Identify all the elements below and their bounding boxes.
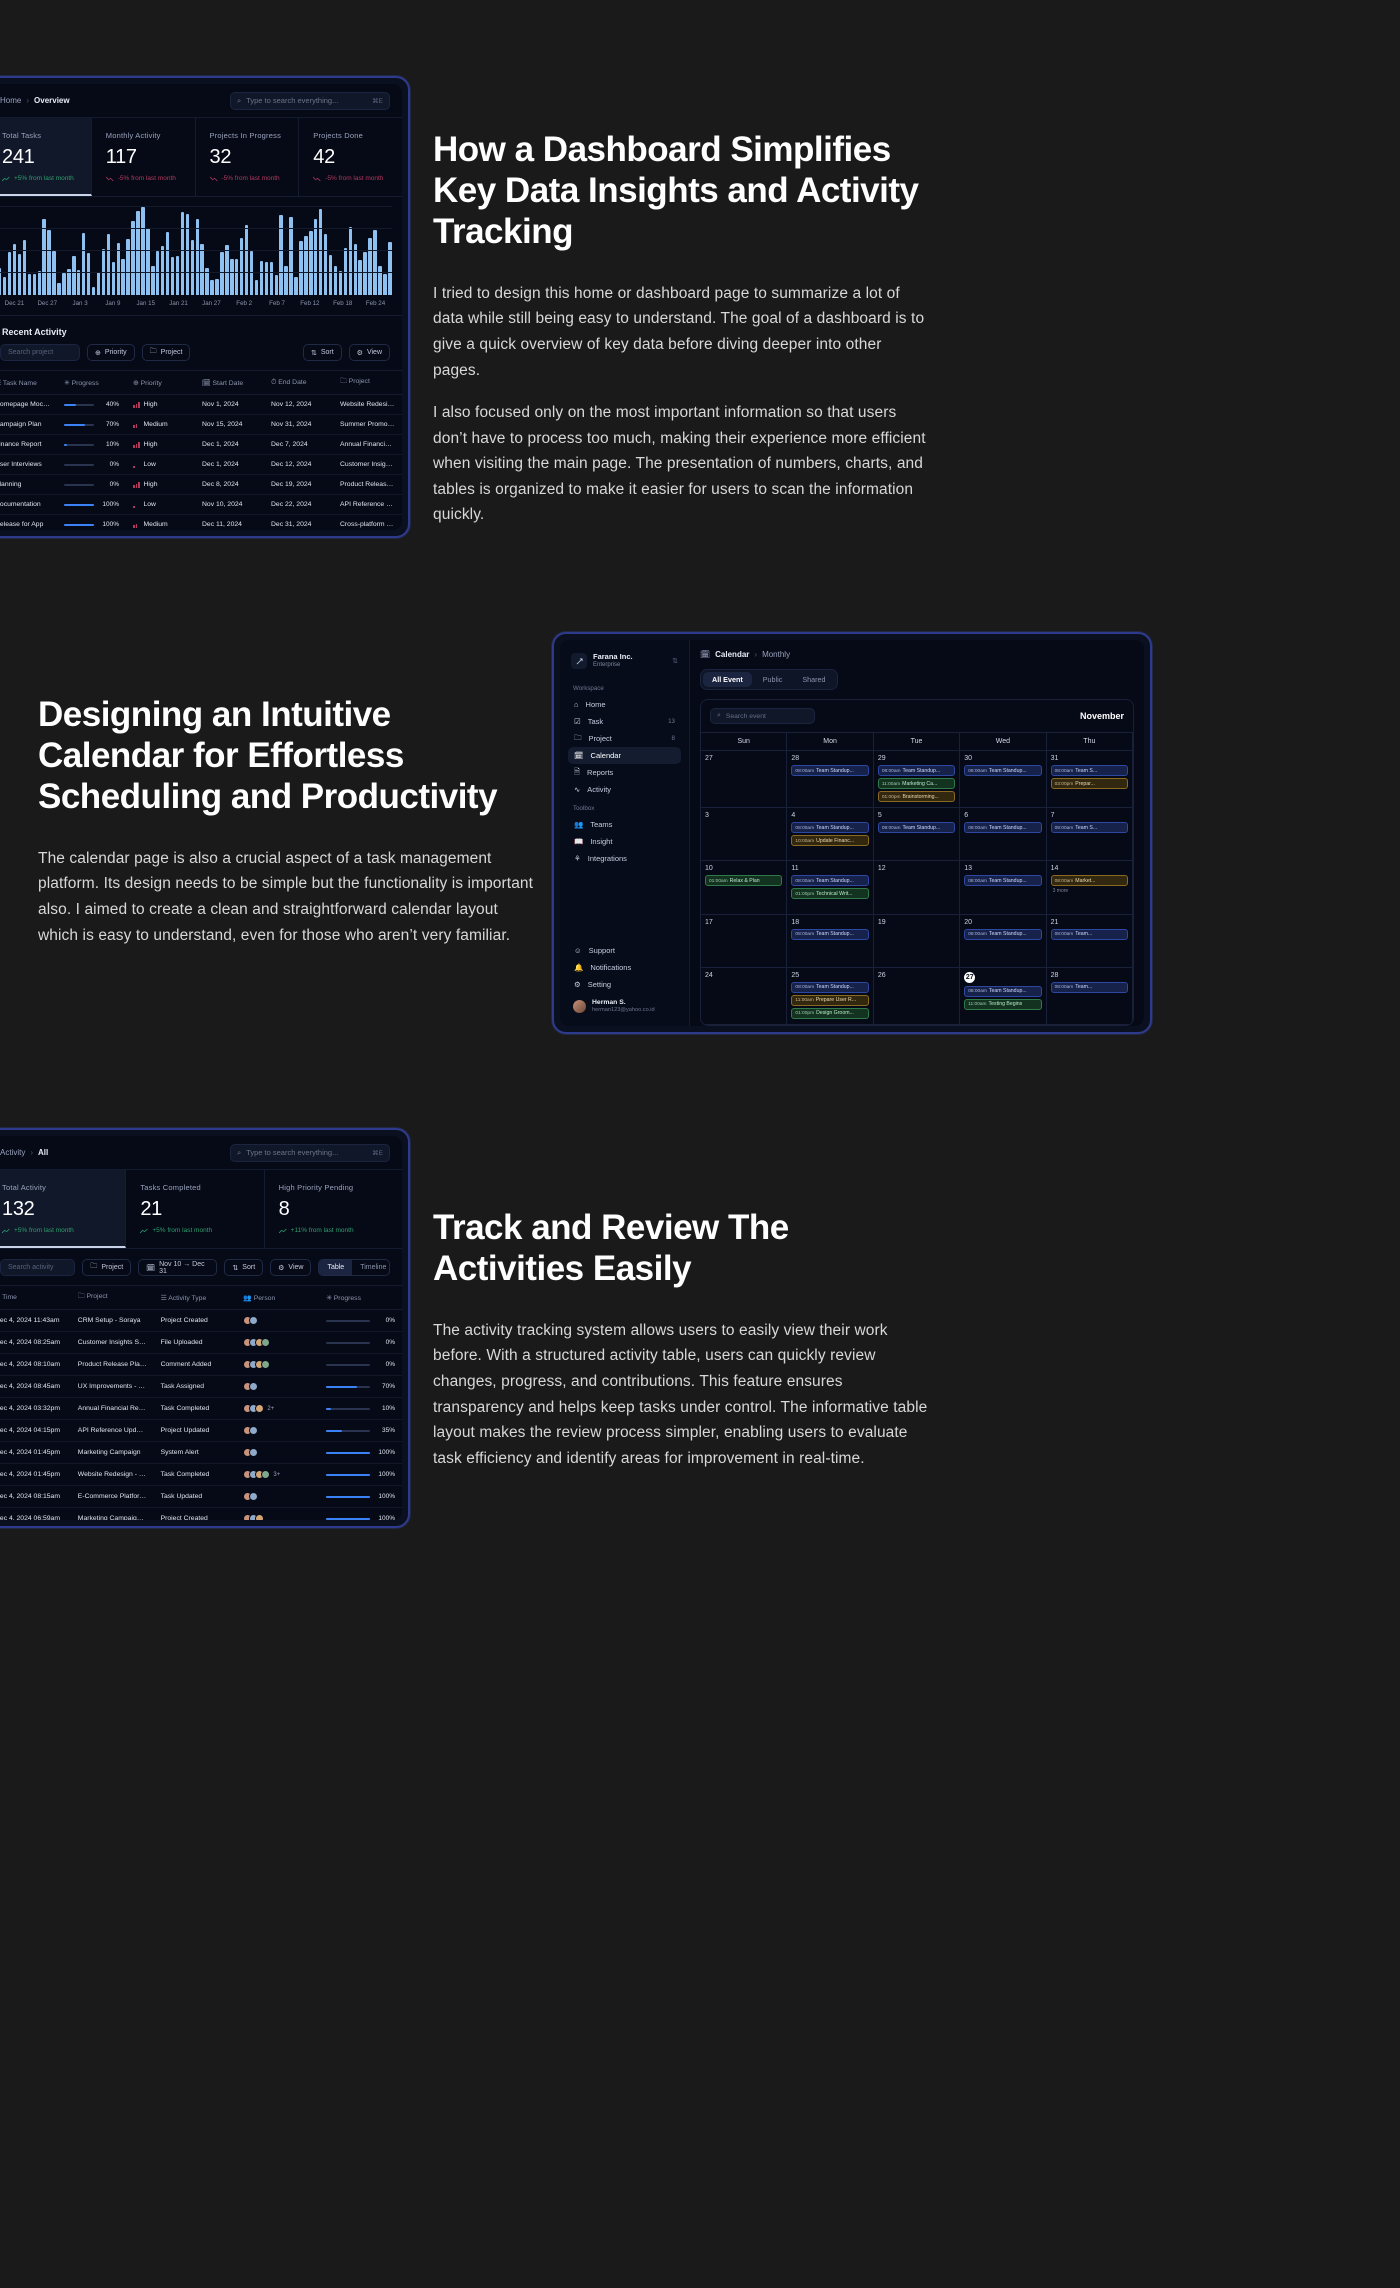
table-row[interactable]: Documentation 100% Low Nov 10, 2024 Dec … bbox=[0, 495, 402, 515]
table-row[interactable]: User Interviews 0% Low Dec 1, 2024 Dec 1… bbox=[0, 455, 402, 475]
calendar-day-cell[interactable]: 27 bbox=[701, 751, 787, 808]
calendar-event[interactable]: 01:00amRelax & Plan bbox=[705, 875, 782, 886]
chart-tick-label: Feb 24 bbox=[359, 300, 392, 307]
calendar-day-cell[interactable]: 20 08:00amTeam Standup... bbox=[960, 915, 1046, 968]
chart-bar bbox=[181, 212, 184, 295]
day-number: 29 bbox=[878, 755, 955, 762]
table-row[interactable]: Dec 4, 2024 03:32pm Annual Financial Rep… bbox=[0, 1398, 402, 1420]
event-time: 08:00am bbox=[968, 932, 987, 937]
event-time: 01:00pm bbox=[795, 1011, 814, 1016]
chart-tick-label: Dec 21 bbox=[0, 300, 31, 307]
event-title: Market... bbox=[1075, 878, 1095, 884]
column-header[interactable]: ☰ Activity Type bbox=[154, 1286, 237, 1310]
calendar-icon: 🗓 bbox=[574, 751, 584, 760]
cell-activity-type: Task Updated bbox=[154, 1486, 237, 1508]
event-time: 08:00am bbox=[1055, 879, 1074, 884]
chart-bar bbox=[368, 238, 371, 295]
chart-tick-label: Feb 18 bbox=[326, 300, 359, 307]
sidebar-item-reports[interactable]: 🗎 Reports bbox=[568, 764, 681, 781]
event-title: Update Financ... bbox=[816, 838, 854, 844]
folder-icon: 🗀 bbox=[150, 347, 157, 358]
event-title: Team Standup... bbox=[989, 825, 1027, 831]
chart-bar bbox=[210, 280, 213, 295]
calendar-event[interactable]: 11:00amPrepare User R... bbox=[791, 995, 868, 1006]
table-row[interactable]: Dec 4, 2024 08:25am Customer Insights St… bbox=[0, 1332, 402, 1354]
stat-delta: -5% from last month bbox=[210, 175, 285, 182]
calendar-event[interactable]: 11:00amMarketing Ca... bbox=[878, 778, 955, 789]
home-icon: ⌂ bbox=[574, 700, 579, 709]
dashboard-paragraph-1: I tried to design this home or dashboard… bbox=[433, 281, 933, 383]
calendar-day-cell[interactable]: 7 08:00amTeam S... bbox=[1047, 808, 1133, 861]
table-row[interactable]: Dec 4, 2024 04:15pm API Reference Update… bbox=[0, 1420, 402, 1442]
sidebar-item-task[interactable]: ☑ Task 13 bbox=[568, 713, 681, 730]
calendar-day-cell[interactable]: 30 08:00amTeam Standup... bbox=[960, 751, 1046, 808]
event-time: 03:00pm bbox=[1055, 782, 1074, 787]
activity-search-input[interactable]: Search activity bbox=[0, 1259, 75, 1276]
sidebar-item-home[interactable]: ⌂ Home bbox=[568, 696, 681, 713]
sort-button[interactable]: ⇅Sort bbox=[224, 1259, 263, 1276]
calendar-event[interactable]: 08:00amTeam Standup... bbox=[964, 875, 1041, 886]
search-icon: ⌕ bbox=[717, 712, 721, 720]
sidebar-item-notifications[interactable]: 🔔 Notifications bbox=[568, 959, 681, 976]
breadcrumb-root[interactable]: Activity bbox=[0, 1148, 25, 1157]
chart-tick-label: Jan 3 bbox=[64, 300, 97, 307]
event-time: 08:00am bbox=[968, 769, 987, 774]
chart-bar bbox=[161, 246, 164, 295]
sidebar-item-integrations[interactable]: ⚘ Integrations bbox=[568, 850, 681, 867]
column-header[interactable]: 👥 Person bbox=[236, 1286, 319, 1310]
sidebar-item-project[interactable]: 🗀 Project 8 bbox=[568, 730, 681, 747]
event-time: 08:00am bbox=[968, 879, 987, 884]
cell-progress: 100% bbox=[57, 515, 126, 531]
chart-bar bbox=[18, 254, 21, 295]
calendar-tabs: All EventPublicShared bbox=[700, 669, 838, 690]
sidebar-item-insight[interactable]: 📖 Insight bbox=[568, 833, 681, 850]
calendar-window: Farana Inc. Enterprise ⇅ Workspace ⌂ Hom… bbox=[552, 632, 1152, 1034]
cell-time: Dec 4, 2024 11:43am bbox=[0, 1310, 71, 1332]
column-icon: 🗀 bbox=[340, 378, 347, 385]
event-search-placeholder: Search event bbox=[726, 713, 766, 720]
avatar bbox=[261, 1470, 270, 1479]
weekday-label: Mon bbox=[787, 732, 873, 751]
calendar-week-row: 10 01:00amRelax & Plan 11 08:00amTeam St… bbox=[701, 861, 1133, 914]
sidebar-item-label: Home bbox=[586, 700, 606, 709]
event-time: 08:00am bbox=[795, 769, 814, 774]
table-row[interactable]: Dec 4, 2024 08:10am Product Release Plan… bbox=[0, 1354, 402, 1376]
column-header[interactable]: 🗓 Start Date bbox=[195, 371, 264, 395]
global-search-input[interactable]: ⌕ Type to search everything... ⌘E bbox=[230, 1144, 390, 1162]
global-search-input[interactable]: ⌕ Type to search everything... ⌘E bbox=[230, 92, 390, 110]
cell-project: Annual Financial Report bbox=[333, 435, 402, 455]
user-profile[interactable]: Herman S. herman123@yahoo.co.id bbox=[568, 993, 681, 1016]
cell-person bbox=[236, 1508, 319, 1521]
breadcrumb-root[interactable]: Home bbox=[0, 96, 21, 105]
view-button[interactable]: ⚙View bbox=[270, 1259, 311, 1276]
priority-icon bbox=[133, 522, 140, 528]
event-title: Technical Writ... bbox=[816, 891, 853, 897]
column-icon: 🗓 bbox=[202, 380, 211, 387]
table-row[interactable]: Dec 4, 2024 06:59am Marketing Campaign -… bbox=[0, 1508, 402, 1521]
chart-bar bbox=[38, 271, 41, 295]
column-header[interactable]: ☰ Task Name bbox=[0, 371, 57, 395]
dashboard-paragraph-2: I also focused only on the most importan… bbox=[433, 400, 933, 528]
avatar bbox=[249, 1426, 258, 1435]
sidebar-item-teams[interactable]: 👥 Teams bbox=[568, 816, 681, 833]
calendar-event[interactable]: 08:00amTeam Standup... bbox=[964, 822, 1041, 833]
activity-article: Track and Review The Activities Easily T… bbox=[433, 1208, 933, 1471]
event-title: Prepar... bbox=[1075, 781, 1095, 787]
calendar-day-cell[interactable]: 26 bbox=[874, 968, 960, 1025]
calendar-event[interactable]: 08:00amTeam Standup... bbox=[964, 929, 1041, 940]
day-number: 30 bbox=[964, 755, 1041, 762]
day-number: 5 bbox=[878, 812, 955, 819]
dashboard-article: How a Dashboard Simplifies Key Data Insi… bbox=[433, 130, 933, 528]
table-row[interactable]: Dec 4, 2024 01:45pm Website Redesign - H… bbox=[0, 1464, 402, 1486]
cell-end-date: Dec 7, 2024 bbox=[264, 435, 333, 455]
sidebar-item-label: Support bbox=[589, 946, 615, 955]
search-shortcut: ⌘E bbox=[372, 1149, 383, 1157]
column-header[interactable]: ⏱ Time bbox=[0, 1286, 71, 1310]
table-row[interactable]: Dec 4, 2024 08:45am UX Improvements - Bu… bbox=[0, 1376, 402, 1398]
project-filter-button[interactable]: 🗀Project bbox=[142, 344, 191, 361]
activity-icon: ∿ bbox=[574, 785, 580, 794]
day-number: 31 bbox=[1051, 755, 1128, 762]
stat-value: 117 bbox=[106, 146, 181, 169]
project-search-input[interactable]: Search project bbox=[0, 344, 80, 361]
chart-bar bbox=[166, 232, 169, 295]
chart-bar bbox=[220, 252, 223, 295]
project-filter-button[interactable]: 🗀Project bbox=[82, 1259, 131, 1276]
event-title: Team Standup... bbox=[816, 931, 854, 937]
calendar-event[interactable]: 11:00amTesting Begins bbox=[964, 999, 1041, 1010]
sidebar-item-label: Teams bbox=[590, 820, 612, 829]
chart-bar bbox=[329, 255, 332, 295]
chart-bar bbox=[294, 277, 297, 295]
calendar-event[interactable]: 08:00amTeam Standup... bbox=[964, 765, 1041, 776]
column-header[interactable]: 🗀 Project bbox=[333, 371, 402, 395]
stat-card[interactable]: Total Activity 132 +5% from last month bbox=[0, 1170, 126, 1248]
chart-bar bbox=[215, 279, 218, 295]
column-icon: 🗀 bbox=[78, 1293, 85, 1300]
chart-tick-label: Dec 27 bbox=[31, 300, 64, 307]
view-mode-timeline[interactable]: Timeline bbox=[352, 1260, 390, 1275]
cell-progress: 100% bbox=[319, 1486, 402, 1508]
event-time: 08:00am bbox=[882, 769, 901, 774]
calendar-week-row: 27 28 08:00amTeam Standup... 29 08:00amT… bbox=[701, 751, 1133, 808]
column-icon: ⊕ bbox=[133, 380, 139, 387]
cell-start-date: Nov 15, 2024 bbox=[195, 415, 264, 435]
cell-priority: High bbox=[126, 395, 195, 415]
calendar-day-cell[interactable]: 13 08:00amTeam Standup... bbox=[960, 861, 1046, 914]
sidebar-item-support[interactable]: ☺ Support bbox=[568, 942, 681, 959]
activity-stat-strip: Total Activity 132 +5% from last month T… bbox=[0, 1170, 402, 1249]
table-row[interactable]: Dec 4, 2024 08:15am E-Commerce Platform … bbox=[0, 1486, 402, 1508]
cell-project: Website Redesign bbox=[333, 395, 402, 415]
cell-task: Campaign Plan bbox=[0, 415, 57, 435]
calendar-event[interactable]: 08:00amTeam Standup... bbox=[791, 822, 868, 833]
calendar-event[interactable]: 01:00pmBrainstorming... bbox=[878, 791, 955, 802]
integrations-icon: ⚘ bbox=[574, 854, 581, 863]
cell-progress: 70% bbox=[57, 415, 126, 435]
calendar-day-cell[interactable]: 12 bbox=[874, 861, 960, 914]
column-icon: ✳ bbox=[326, 1295, 332, 1302]
calendar-day-cell[interactable]: 19 bbox=[874, 915, 960, 968]
cell-person bbox=[236, 1354, 319, 1376]
calendar-event[interactable]: 01:00pmDesign Groom... bbox=[791, 1008, 868, 1019]
chart-bar bbox=[186, 214, 189, 295]
trend-down-icon bbox=[313, 176, 321, 182]
chart-bar bbox=[8, 252, 11, 295]
cell-project: Product Release Plan - Hundai bbox=[71, 1354, 154, 1376]
cell-start-date: Dec 11, 2024 bbox=[195, 515, 264, 531]
calendar-icon: 🗓 bbox=[146, 1264, 155, 1272]
calendar-day-cell[interactable]: 4 08:00amTeam Standup...10:00amUpdate Fi… bbox=[787, 808, 873, 861]
sidebar-item-activity[interactable]: ∿ Activity bbox=[568, 781, 681, 798]
day-number: 28 bbox=[1051, 972, 1128, 979]
stat-card[interactable]: Projects In Progress 32 -5% from last mo… bbox=[196, 118, 300, 196]
column-header[interactable]: ⊕ Priority bbox=[126, 371, 195, 395]
day-number: 3 bbox=[705, 812, 782, 819]
calendar-sidebar: Farana Inc. Enterprise ⇅ Workspace ⌂ Hom… bbox=[560, 640, 690, 1026]
calendar-event[interactable]: 08:00amTeam Standup... bbox=[878, 822, 955, 833]
calendar-day-cell[interactable]: 11 08:00amTeam Standup...01:00pmTechnica… bbox=[787, 861, 873, 914]
table-row[interactable]: Homepage Mockup 40% High Nov 1, 2024 Nov… bbox=[0, 395, 402, 415]
chart-bar bbox=[121, 259, 124, 295]
event-title: Team... bbox=[1075, 984, 1092, 990]
calendar-day-cell[interactable]: 28 08:00amTeam... bbox=[1047, 968, 1133, 1025]
table-row[interactable]: Finance Report 10% High Dec 1, 2024 Dec … bbox=[0, 435, 402, 455]
cell-progress: 10% bbox=[319, 1398, 402, 1420]
stat-card[interactable]: Monthly Activity 117 -5% from last month bbox=[92, 118, 196, 196]
breadcrumb-current: Monthly bbox=[762, 650, 790, 659]
day-number: 25 bbox=[791, 972, 868, 979]
chart-bar bbox=[225, 245, 228, 295]
chart-bar bbox=[270, 262, 273, 295]
calendar-tab-shared[interactable]: Shared bbox=[793, 672, 834, 687]
calendar-event[interactable]: 08:00amTeam S... bbox=[1051, 822, 1128, 833]
table-row[interactable]: Dec 4, 2024 11:43am CRM Setup - Soraya P… bbox=[0, 1310, 402, 1332]
calendar-day-cell[interactable]: 18 08:00amTeam Standup... bbox=[787, 915, 873, 968]
cell-priority: High bbox=[126, 435, 195, 455]
view-mode-table[interactable]: Table bbox=[319, 1260, 352, 1275]
cell-end-date: Dec 12, 2024 bbox=[264, 455, 333, 475]
stat-value: 132 bbox=[2, 1198, 111, 1221]
cell-activity-type: Task Completed bbox=[154, 1464, 237, 1486]
cell-activity-type: Project Created bbox=[154, 1508, 237, 1521]
sidebar-item-label: Integrations bbox=[588, 854, 627, 863]
workspace-switcher[interactable]: Farana Inc. Enterprise ⇅ bbox=[568, 650, 681, 678]
day-number: 27 bbox=[705, 755, 782, 762]
calendar-event[interactable]: 08:00amTeam Standup... bbox=[964, 986, 1041, 997]
cell-activity-type: File Uploaded bbox=[154, 1332, 237, 1354]
cell-time: Dec 4, 2024 03:32pm bbox=[0, 1398, 71, 1420]
event-time: 11:00am bbox=[882, 782, 900, 787]
priority-filter-button[interactable]: ⊕Priority bbox=[87, 344, 135, 361]
stat-label: Monthly Activity bbox=[106, 131, 181, 140]
calendar-event[interactable]: 08:00amTeam... bbox=[1051, 982, 1128, 993]
stat-value: 21 bbox=[140, 1198, 249, 1221]
calendar-event[interactable]: 03:00pmPrepar... bbox=[1051, 778, 1128, 789]
stat-card[interactable]: Tasks Completed 21 +5% from last month bbox=[126, 1170, 264, 1248]
cell-end-date: Nov 31, 2024 bbox=[264, 415, 333, 435]
weekday-label: Tue bbox=[874, 732, 960, 751]
section-title: Recent Activity bbox=[0, 316, 402, 344]
event-time: 08:00am bbox=[968, 826, 987, 831]
chart-tick-label: Jan 27 bbox=[195, 300, 228, 307]
cell-start-date: Dec 1, 2024 bbox=[195, 435, 264, 455]
chart-plot-area bbox=[0, 207, 392, 295]
report-icon: 🗎 bbox=[574, 766, 580, 779]
cell-progress: 100% bbox=[319, 1464, 402, 1486]
cell-person: 3+ bbox=[236, 1464, 319, 1486]
table-row[interactable]: Release for App 100% Medium Dec 11, 2024… bbox=[0, 515, 402, 531]
stat-delta: +11% from last month bbox=[279, 1227, 388, 1234]
stat-card[interactable]: Projects Done 42 -5% from last month bbox=[299, 118, 402, 196]
cell-time: Dec 4, 2024 08:10am bbox=[0, 1354, 71, 1376]
stat-label: Projects In Progress bbox=[210, 131, 285, 140]
column-header[interactable]: ✳ Progress bbox=[57, 371, 126, 395]
stat-card[interactable]: Total Tasks 241 +5% from last month bbox=[0, 118, 92, 196]
calendar-event[interactable]: 10:00amUpdate Financ... bbox=[791, 835, 868, 846]
cell-task: Release for App bbox=[0, 515, 57, 531]
chart-bar bbox=[191, 240, 194, 295]
cell-person bbox=[236, 1332, 319, 1354]
chart-bar bbox=[304, 236, 307, 295]
date-range-button[interactable]: 🗓Nov 10 → Dec 31 bbox=[138, 1259, 217, 1276]
breadcrumb-root[interactable]: Calendar bbox=[715, 650, 749, 659]
calendar-day-cell[interactable]: 3 bbox=[701, 808, 787, 861]
calendar-day-cell[interactable]: 29 08:00amTeam Standup...11:00amMarketin… bbox=[874, 751, 960, 808]
column-header[interactable]: ⏱ End Date bbox=[264, 371, 333, 395]
chart-bar bbox=[176, 256, 179, 295]
calendar-day-cell[interactable]: 14 08:00amMarket...3 more bbox=[1047, 861, 1133, 914]
nav-group-label: Toolbox bbox=[568, 798, 681, 816]
folder-icon: 🗀 bbox=[90, 1262, 97, 1273]
calendar-day-cell[interactable]: 31 08:00amTeam S...03:00pmPrepar... bbox=[1047, 751, 1133, 808]
calendar-tab-all-event[interactable]: All Event bbox=[703, 672, 752, 687]
chart-bar bbox=[339, 271, 342, 295]
avatar bbox=[261, 1338, 270, 1347]
cell-activity-type: Task Assigned bbox=[154, 1376, 237, 1398]
cell-progress: 0% bbox=[319, 1332, 402, 1354]
stat-card[interactable]: High Priority Pending 8 +11% from last m… bbox=[265, 1170, 402, 1248]
calendar-day-cell[interactable]: 17 bbox=[701, 915, 787, 968]
cell-end-date: Dec 22, 2024 bbox=[264, 495, 333, 515]
event-title: Testing Begins bbox=[989, 1001, 1023, 1007]
dashboard-window: Farana Inc.Enterprise Workspace ⌂Home ☑T… bbox=[0, 76, 410, 538]
calendar-nav: Workspace ⌂ Home ☑ Task 13 🗀 Project 8 🗓… bbox=[568, 678, 681, 867]
calendar-event[interactable]: 08:00amTeam S... bbox=[1051, 765, 1128, 776]
calendar-event[interactable]: 01:00pmTechnical Writ... bbox=[791, 888, 868, 899]
cell-project: E-Commerce Platform - DogShopy bbox=[71, 1486, 154, 1508]
calendar-day-cell[interactable]: 5 08:00amTeam Standup... bbox=[874, 808, 960, 861]
cell-progress: 70% bbox=[319, 1376, 402, 1398]
bell-icon: 🔔 bbox=[574, 963, 583, 972]
calendar-day-cell[interactable]: 24 bbox=[701, 968, 787, 1025]
calendar-day-cell[interactable]: 21 08:00amTeam... bbox=[1047, 915, 1133, 968]
cell-activity-type: Comment Added bbox=[154, 1354, 237, 1376]
chart-bar bbox=[23, 240, 26, 295]
sidebar-item-label: Notifications bbox=[590, 963, 631, 972]
chart-bar bbox=[97, 272, 100, 295]
calendar-day-cell[interactable]: 25 08:00amTeam Standup...11:00amPrepare … bbox=[787, 968, 873, 1025]
event-search-input[interactable]: ⌕ Search event bbox=[710, 708, 815, 724]
column-header[interactable]: ✳ Progress bbox=[319, 1286, 402, 1310]
plus-circle-icon: ⊕ bbox=[95, 349, 101, 357]
cell-task: Planning bbox=[0, 475, 57, 495]
calendar-day-cell[interactable]: 6 08:00amTeam Standup... bbox=[960, 808, 1046, 861]
day-number: 7 bbox=[1051, 812, 1128, 819]
avatar bbox=[249, 1382, 258, 1391]
avatar bbox=[261, 1360, 270, 1369]
chart-bar bbox=[314, 219, 317, 295]
calendar-event[interactable]: 08:00amTeam Standup... bbox=[791, 929, 868, 940]
table-row[interactable]: Planning 0% High Dec 8, 2024 Dec 19, 202… bbox=[0, 475, 402, 495]
calendar-week-row: 17 18 08:00amTeam Standup... 19 20 08:00… bbox=[701, 915, 1133, 968]
calendar-article: Designing an Intuitive Calendar for Effo… bbox=[38, 695, 538, 948]
sidebar-item-calendar[interactable]: 🗓 Calendar bbox=[568, 747, 681, 764]
more-events-link[interactable]: 3 more bbox=[1051, 888, 1128, 894]
chart-bar bbox=[309, 231, 312, 295]
chart-bar bbox=[383, 274, 386, 296]
sidebar-item-label: Project bbox=[589, 734, 612, 743]
table-row[interactable]: Campaign Plan 70% Medium Nov 15, 2024 No… bbox=[0, 415, 402, 435]
calendar-event[interactable]: 08:00amMarket... bbox=[1051, 875, 1128, 886]
calendar-event[interactable]: 08:00amTeam Standup... bbox=[878, 765, 955, 776]
calendar-day-cell[interactable]: 28 08:00amTeam Standup... bbox=[787, 751, 873, 808]
chevron-updown-icon[interactable]: ⇅ bbox=[672, 657, 678, 665]
calendar-event[interactable]: 08:00amTeam... bbox=[1051, 929, 1128, 940]
calendar-event[interactable]: 08:00amTeam Standup... bbox=[791, 765, 868, 776]
sidebar-item-setting[interactable]: ⚙ Setting bbox=[568, 976, 681, 993]
day-number: 27 bbox=[964, 972, 975, 983]
calendar-day-cell[interactable]: 27 08:00amTeam Standup...11:00amTesting … bbox=[960, 968, 1046, 1025]
cell-priority: Medium bbox=[126, 415, 195, 435]
calendar-tab-public[interactable]: Public bbox=[754, 672, 792, 687]
column-icon: ☰ bbox=[161, 1295, 167, 1302]
cell-project: Cross-platform Redesign bbox=[333, 515, 402, 531]
chart-bar bbox=[42, 219, 45, 295]
event-title: Team Standup... bbox=[816, 984, 854, 990]
cell-activity-type: Project Updated bbox=[154, 1420, 237, 1442]
sort-button[interactable]: ⇅Sort bbox=[303, 344, 342, 361]
cell-person: 2+ bbox=[236, 1398, 319, 1420]
cell-priority: Low bbox=[126, 495, 195, 515]
cell-project: API Reference Update - Fanara bbox=[71, 1420, 154, 1442]
day-number: 4 bbox=[791, 812, 868, 819]
table-row[interactable]: Dec 4, 2024 01:45pm Marketing Campaign S… bbox=[0, 1442, 402, 1464]
search-icon: ⌕ bbox=[237, 96, 241, 106]
day-number: 20 bbox=[964, 919, 1041, 926]
view-mode-switch: Table Timeline bbox=[318, 1259, 390, 1276]
stat-delta: -5% from last month bbox=[313, 175, 388, 182]
calendar-event[interactable]: 08:00amTeam Standup... bbox=[791, 875, 868, 886]
calendar-day-cell[interactable]: 10 01:00amRelax & Plan bbox=[701, 861, 787, 914]
sidebar-footer: ☺ Support 🔔 Notifications ⚙ Setting Herm… bbox=[568, 942, 681, 1016]
event-title: Team Standup... bbox=[902, 825, 940, 831]
chart-bar bbox=[146, 228, 149, 295]
activity-topbar: Activity › All ⌕ Type to search everythi… bbox=[0, 1136, 402, 1170]
cell-progress: 0% bbox=[57, 455, 126, 475]
cell-project: Product Release Plan - Hundai bbox=[333, 475, 402, 495]
column-header[interactable]: 🗀 Project bbox=[71, 1286, 154, 1310]
calendar-event[interactable]: 08:00amTeam Standup... bbox=[791, 982, 868, 993]
sort-icon: ⇅ bbox=[232, 1264, 238, 1272]
breadcrumb-separator: › bbox=[30, 1148, 33, 1157]
view-button[interactable]: ⚙View bbox=[349, 344, 390, 361]
stat-label: Total Tasks bbox=[2, 131, 77, 140]
event-title: Relax & Plan bbox=[730, 878, 760, 884]
